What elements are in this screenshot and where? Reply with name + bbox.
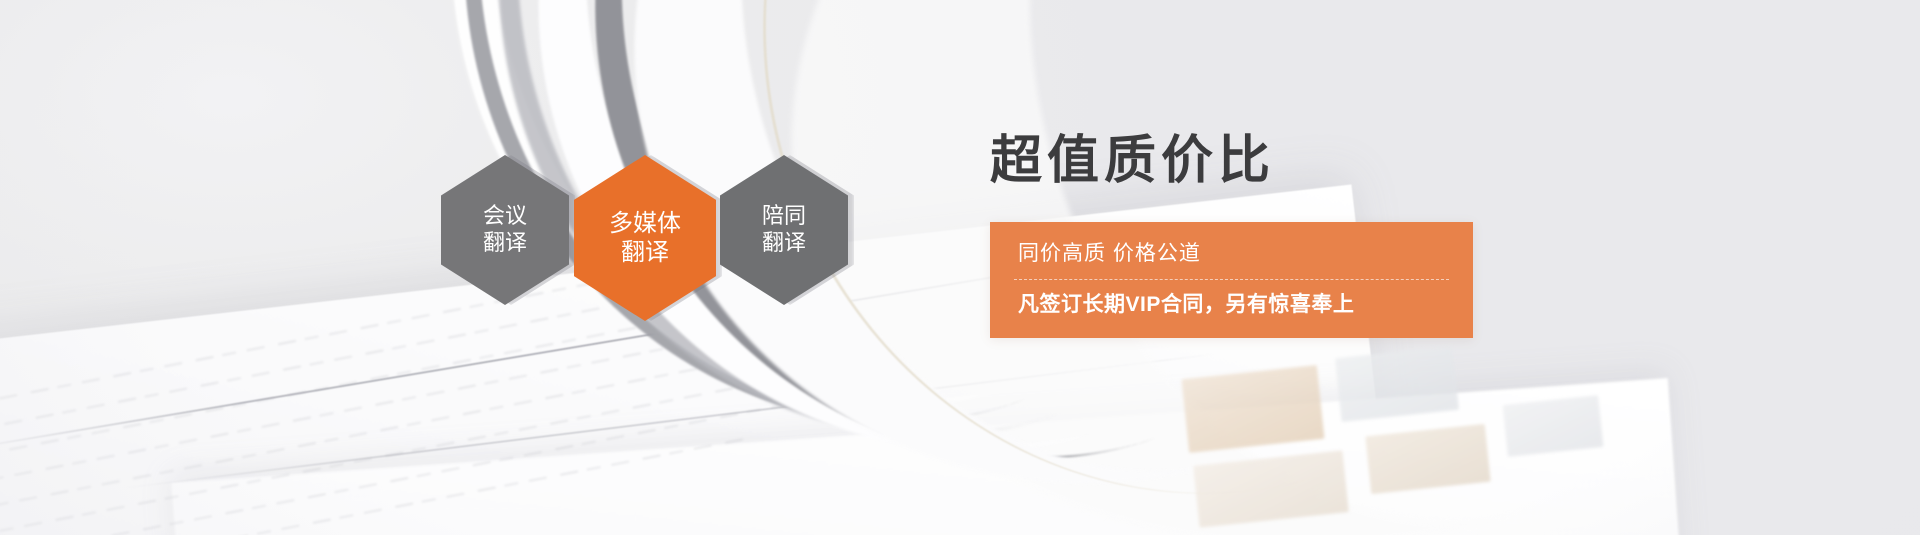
banner-copy: 超值质价比 同价高质 价格公道 凡签订长期VIP合同，另有惊喜奉上 bbox=[990, 133, 1473, 338]
banner-headline: 超值质价比 bbox=[990, 133, 1473, 190]
hexagon-label-line2: 翻译 bbox=[762, 230, 806, 257]
promo-line-primary: 同价高质 价格公道 bbox=[990, 238, 1473, 279]
vignette-overlay bbox=[0, 0, 1920, 535]
hexagon-label-line1: 多媒体 bbox=[609, 209, 681, 238]
hexagon-label-line2: 翻译 bbox=[621, 238, 669, 267]
promo-box: 同价高质 价格公道 凡签订长期VIP合同，另有惊喜奉上 bbox=[990, 222, 1473, 338]
promo-banner: 会议 翻译 多媒体 翻译 陪同 翻译 超值质价比 同价高质 价格公道 凡签订长期… bbox=[0, 0, 1920, 535]
promo-line-secondary: 凡签订长期VIP合同，另有惊喜奉上 bbox=[990, 280, 1473, 321]
hexagon-label-line1: 陪同 bbox=[762, 203, 806, 230]
hexagon-label-line1: 会议 bbox=[483, 203, 527, 230]
hexagon-label-line2: 翻译 bbox=[483, 230, 527, 257]
background-photo bbox=[0, 0, 1920, 535]
